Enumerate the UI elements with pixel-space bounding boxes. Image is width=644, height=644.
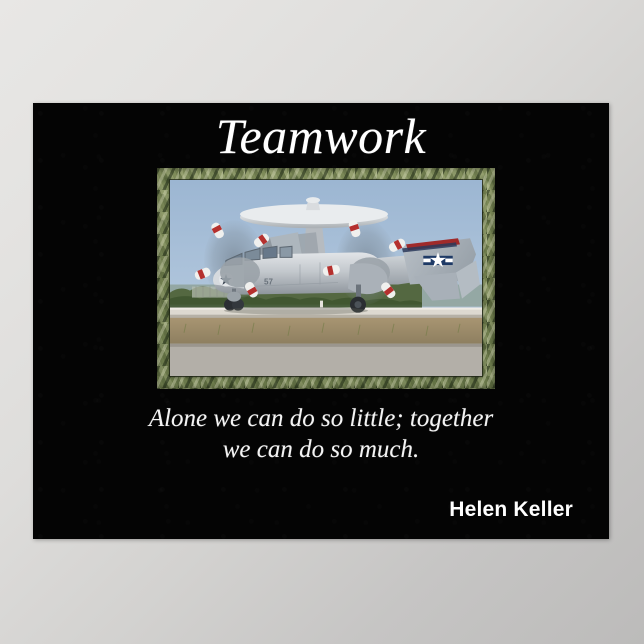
poster-page: Teamwork — [0, 0, 644, 644]
photo-frame: 57 — [157, 168, 495, 389]
quote-line-2: we can do so much. — [73, 434, 569, 465]
page-title: Teamwork — [33, 107, 609, 165]
poster: Teamwork — [33, 103, 609, 539]
quote-line-1: Alone we can do so little; together — [73, 403, 569, 434]
quote-attribution: Helen Keller — [449, 498, 573, 522]
aircraft-photo-illustration: 57 — [170, 180, 482, 376]
aircraft-photo: 57 — [170, 180, 482, 376]
quote-text: Alone we can do so little; together we c… — [73, 403, 569, 465]
